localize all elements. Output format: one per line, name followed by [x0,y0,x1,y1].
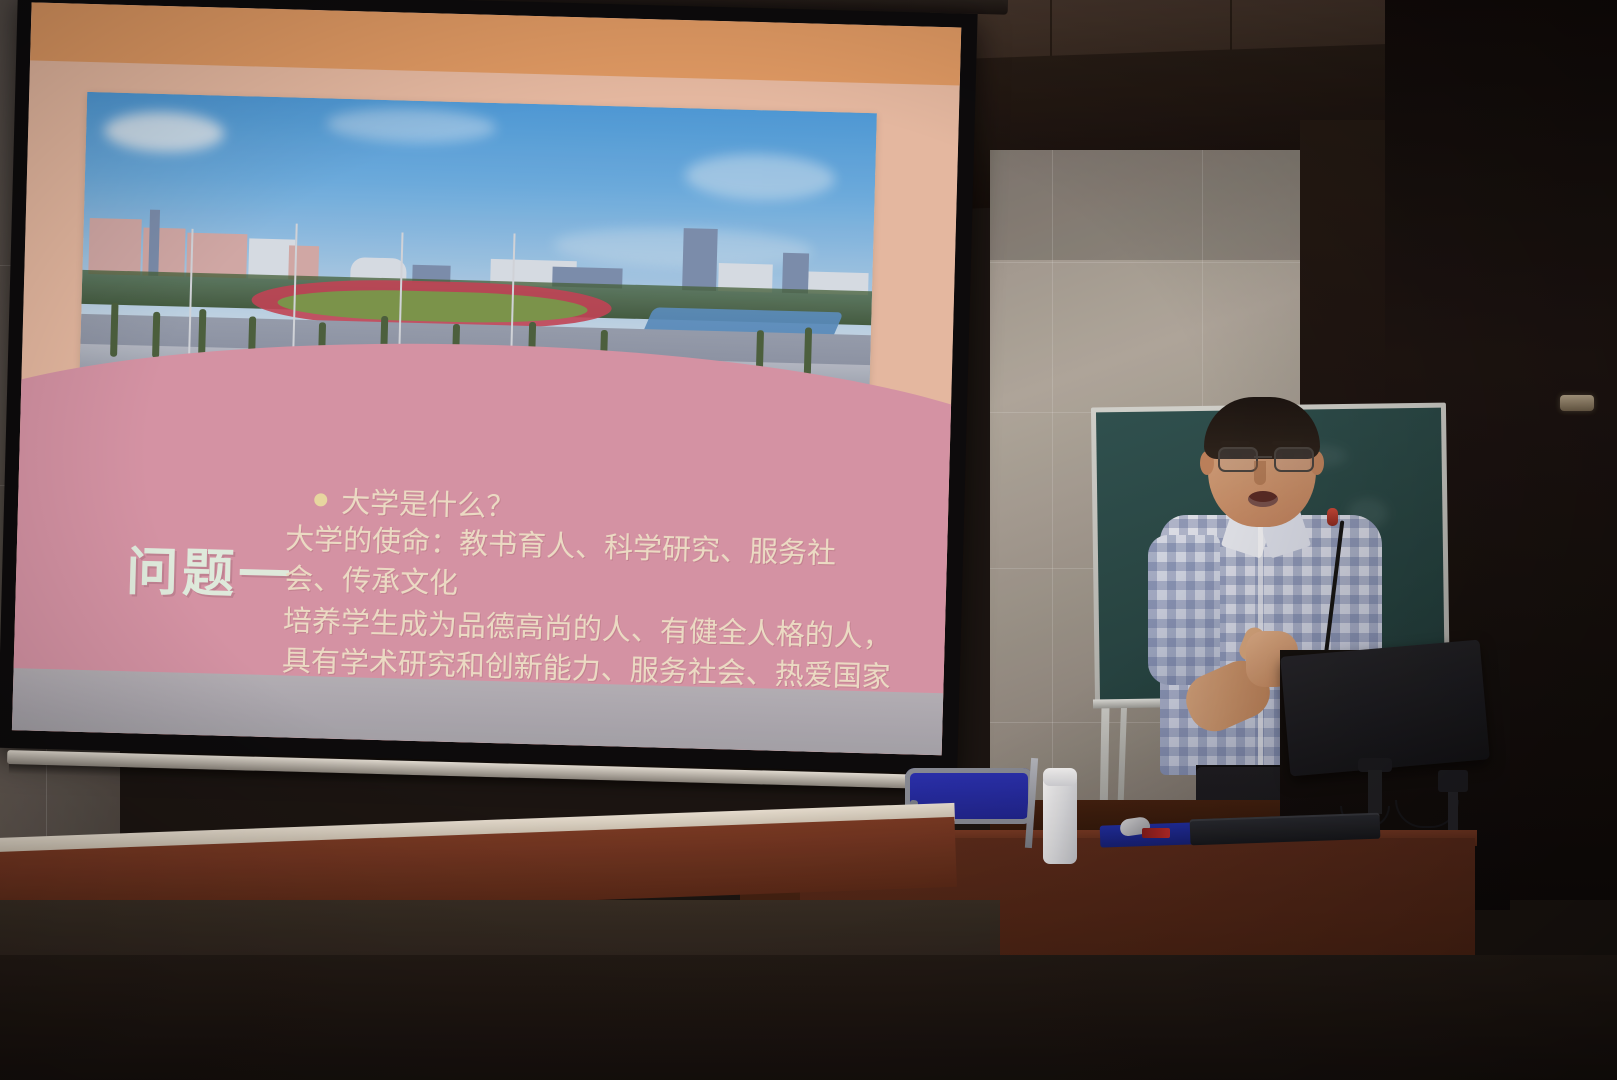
lecture-hall-scene: 问题一 大学是什么？ 大学的使命：教书育人、科学研究、服务社会、传承文化 培养学… [0,0,1617,1080]
projection-screen: 问题一 大学是什么？ 大学的使命：教书育人、科学研究、服务社会、传承文化 培养学… [0,0,988,814]
presenter-remote[interactable] [1142,828,1170,838]
slide-section-label: 问题一 [125,529,295,609]
water-bottle-cap[interactable] [1043,768,1077,786]
slide-body-line-1: 大学的使命：教书育人、科学研究、服务社会、传承文化 [284,519,886,615]
screen-frame: 问题一 大学是什么？ 大学的使命：教书育人、科学研究、服务社会、传承文化 培养学… [0,0,978,774]
bullet-dot-icon [314,493,327,506]
microphone-icon[interactable] [1327,508,1338,526]
eyebrow-right [1272,441,1302,445]
floor-front [0,955,1617,1080]
cable-post [1448,792,1458,832]
slide-top-band [30,2,961,85]
power-adapter [1438,770,1468,792]
eyebrow-left [1220,441,1250,445]
nose [1254,461,1266,485]
monitor-screen[interactable] [1280,640,1490,777]
slide-content: 问题一 大学是什么？ 大学的使命：教书育人、科学研究、服务社会、传承文化 培养学… [12,2,961,755]
door-handle-icon[interactable] [1560,395,1594,411]
water-bottle[interactable] [1043,776,1077,864]
slide-surface: 问题一 大学是什么？ 大学的使命：教书育人、科学研究、服务社会、传承文化 培养学… [12,2,961,755]
slide-bullet-row: 大学是什么？ [314,478,516,525]
slide-bullet-text: 大学是什么？ [341,479,516,526]
shirt-sleeve-left [1148,535,1220,685]
mouth [1248,491,1278,507]
